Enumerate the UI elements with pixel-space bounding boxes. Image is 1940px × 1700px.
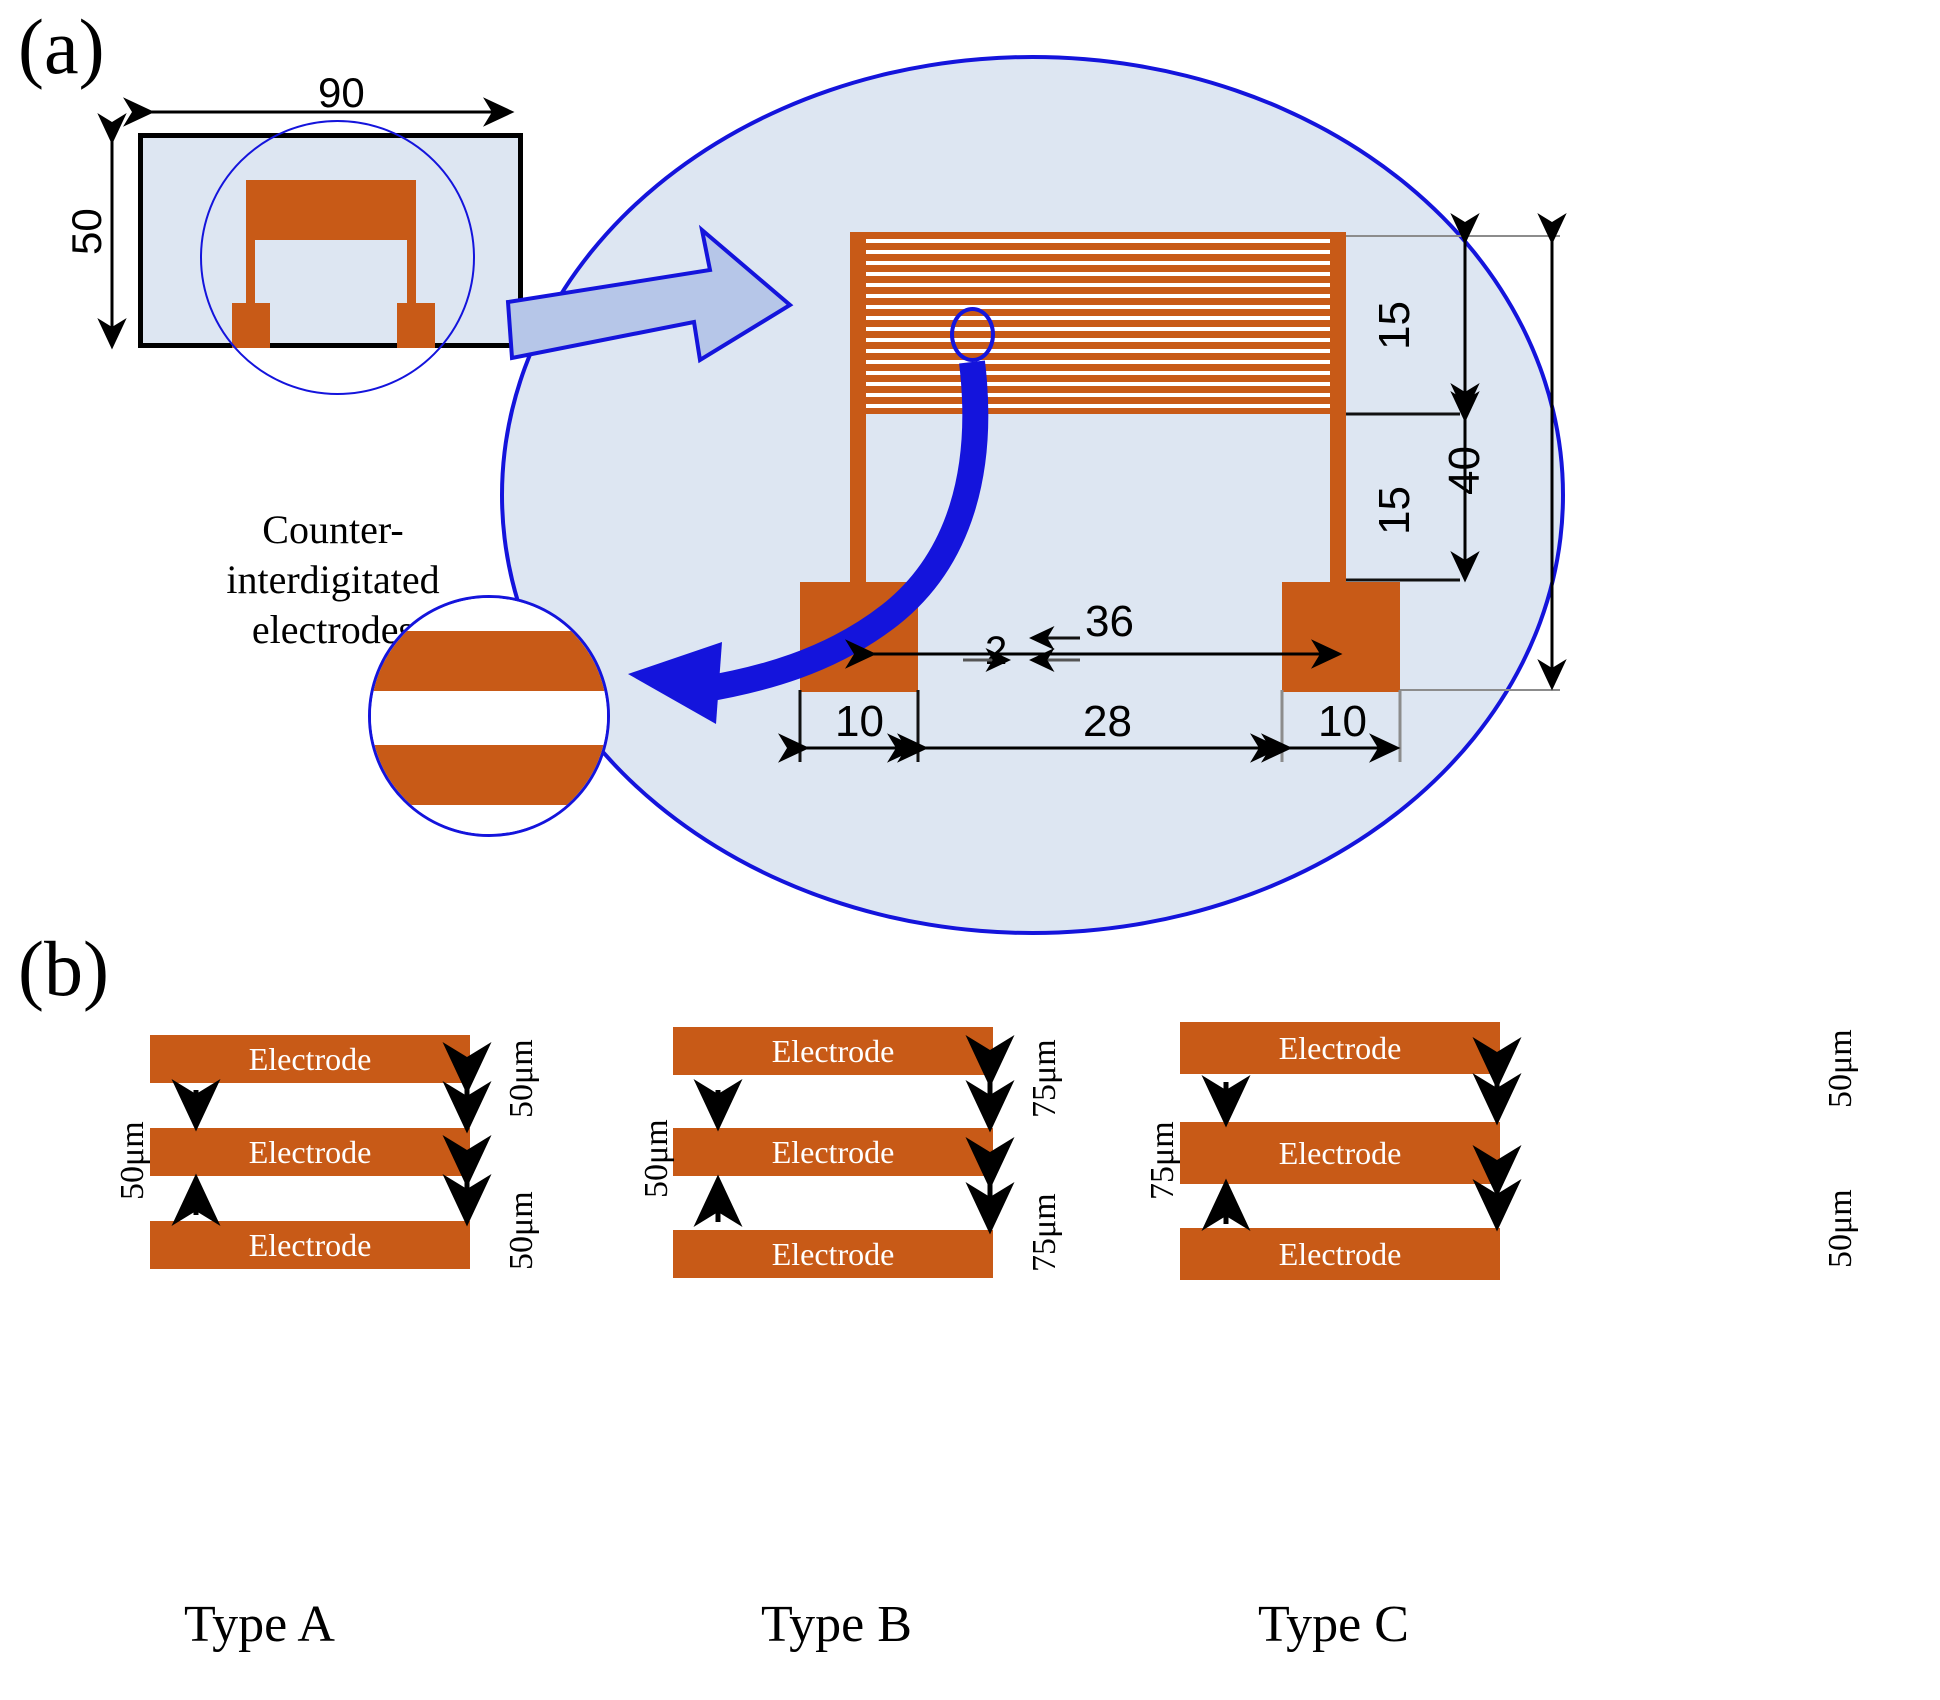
dim-pad-gap-label: 28 bbox=[1083, 700, 1132, 744]
type-a-bar-3: Electrode bbox=[150, 1221, 470, 1269]
type-b-caption: Type B bbox=[761, 1595, 912, 1654]
type-a-bar-2: Electrode bbox=[150, 1128, 470, 1176]
panel-a-label: (a) bbox=[18, 8, 105, 86]
figure-root: (a) 90 50 Counter-interdigitated electro… bbox=[0, 0, 1940, 1700]
type-a-right-label-bottom: 50μm bbox=[505, 1191, 539, 1270]
type-b-left-label: 50μm bbox=[640, 1119, 674, 1198]
finger-stripes bbox=[850, 232, 1338, 414]
dim-total-height-label: 40 bbox=[1443, 446, 1487, 495]
dim-inner-span-label: 36 bbox=[1085, 600, 1134, 644]
type-b-bar-2: Electrode bbox=[673, 1128, 993, 1176]
right-contact-pad bbox=[1282, 582, 1400, 692]
interdigitated-fingers-region bbox=[850, 232, 1338, 414]
dim-finger-gap-label: 2 bbox=[985, 631, 1007, 671]
magnified-stripe-pattern bbox=[368, 595, 610, 837]
dim-comb-height-label: 15 bbox=[1373, 301, 1417, 350]
caption-line-1: Counter-interdigitated bbox=[158, 505, 508, 605]
dim-chip-height-label: 50 bbox=[66, 208, 108, 255]
type-a-right-label-top: 50μm bbox=[505, 1039, 539, 1118]
type-c-right-label-bottom: 50μm bbox=[1824, 1189, 1858, 1268]
right-bus-bar bbox=[1330, 232, 1346, 582]
inset-zoom-marker-circle bbox=[950, 307, 995, 362]
type-c-caption: Type C bbox=[1258, 1595, 1409, 1654]
type-b-right-label-bottom: 75μm bbox=[1028, 1193, 1062, 1272]
type-b-right-label-top: 75μm bbox=[1028, 1039, 1062, 1118]
dim-pad-right-width-label: 10 bbox=[1318, 700, 1367, 744]
type-c-bar-3: Electrode bbox=[1180, 1228, 1500, 1280]
type-c-right-label-top: 50μm bbox=[1824, 1029, 1858, 1108]
type-a-left-label: 50μm bbox=[116, 1121, 150, 1200]
type-c-bar-2: Electrode bbox=[1180, 1122, 1500, 1184]
type-a-bar-1: Electrode bbox=[150, 1035, 470, 1083]
dim-stem-height-label: 15 bbox=[1373, 486, 1417, 535]
left-contact-pad bbox=[800, 582, 918, 692]
type-a-caption: Type A bbox=[184, 1595, 335, 1654]
type-c-bar-1: Electrode bbox=[1180, 1022, 1500, 1074]
type-b-bar-1: Electrode bbox=[673, 1027, 993, 1075]
small-chip-zoom-marker-circle bbox=[200, 120, 475, 395]
type-b-bar-3: Electrode bbox=[673, 1230, 993, 1278]
magnified-stripe-inset bbox=[368, 595, 610, 837]
type-c-left-label: 75μm bbox=[1146, 1121, 1180, 1200]
dim-chip-width-label: 90 bbox=[318, 72, 365, 114]
left-bus-bar bbox=[850, 232, 866, 582]
dim-pad-left-width-label: 10 bbox=[835, 700, 884, 744]
panel-b-label: (b) bbox=[18, 930, 109, 1008]
